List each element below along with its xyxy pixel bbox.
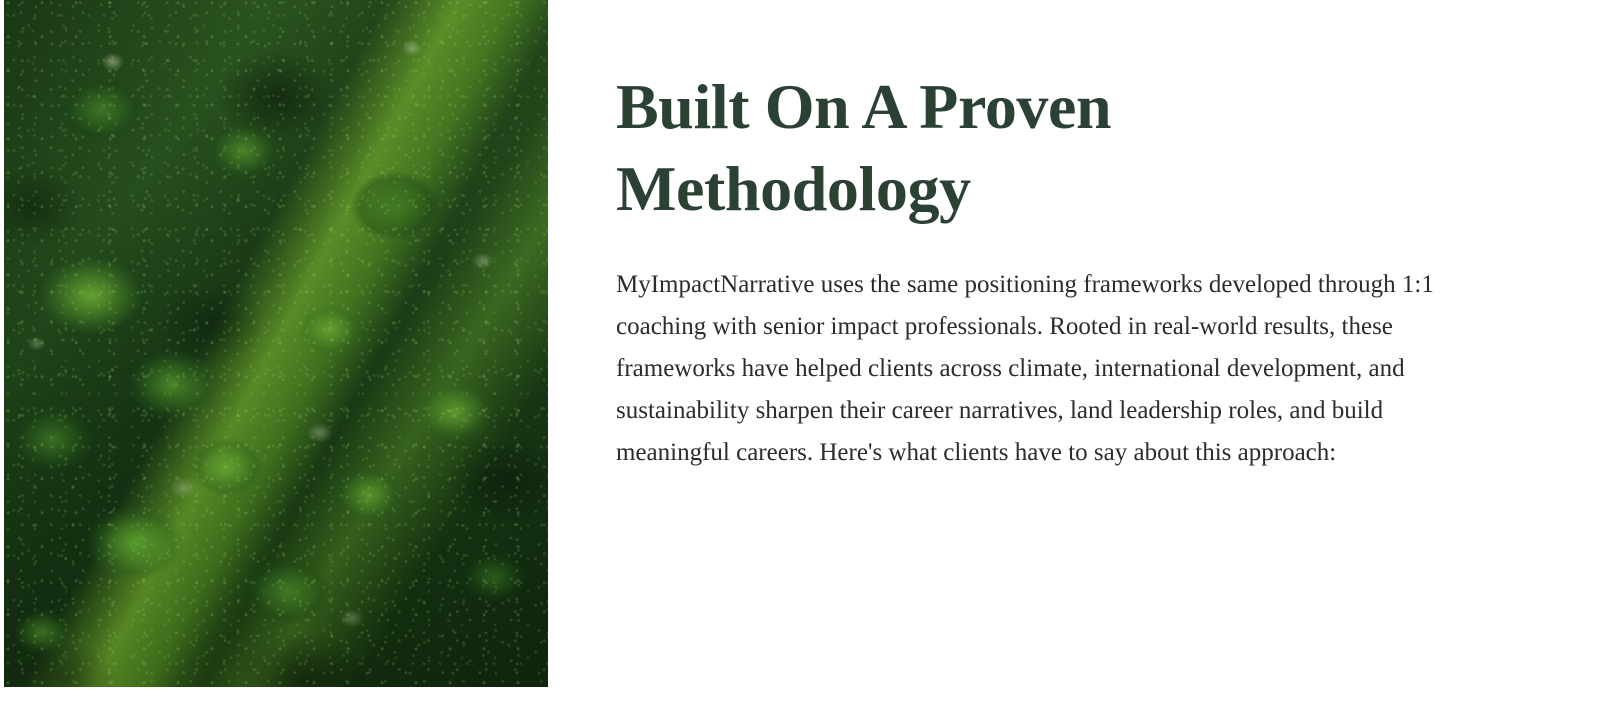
canopy-emergent-tree-layer — [4, 0, 548, 687]
content-column: Built On A Proven Methodology MyImpactNa… — [616, 0, 1476, 702]
page-root: Built On A Proven Methodology MyImpactNa… — [0, 0, 1600, 702]
section-description: MyImpactNarrative uses the same position… — [616, 230, 1472, 474]
page-title: Built On A Proven Methodology — [616, 0, 1236, 230]
forest-canopy-image — [4, 0, 548, 687]
